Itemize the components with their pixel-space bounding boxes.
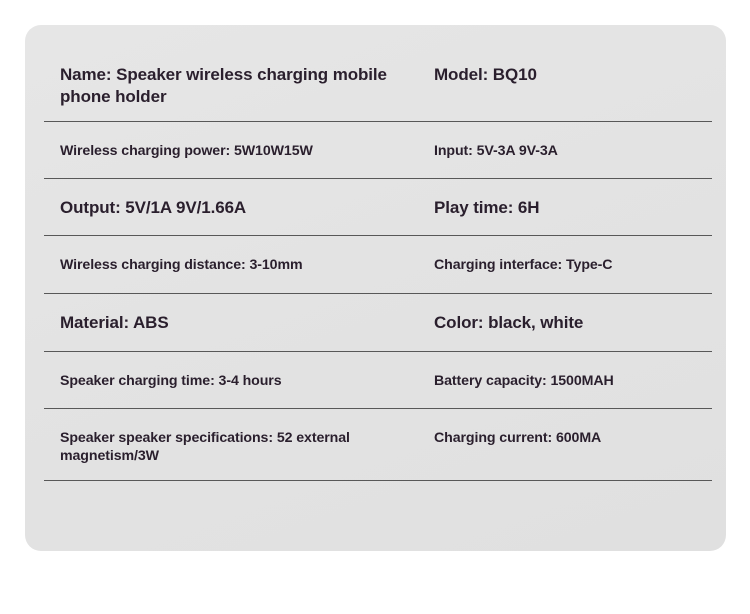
spec-material-left: Material: ABS <box>44 312 409 334</box>
spec-input-right: Input: 5V-3A 9V-3A <box>409 142 712 160</box>
spec-charging-current-right: Charging current: 600MA <box>409 429 712 447</box>
table-row: Name: Speaker wireless charging mobile p… <box>44 39 712 122</box>
table-row: Speaker charging time: 3-4 hours Battery… <box>44 352 712 409</box>
spec-charging-power-left: Wireless charging power: 5W10W15W <box>44 142 409 160</box>
specification-table: Name: Speaker wireless charging mobile p… <box>44 39 712 481</box>
specification-panel: Name: Speaker wireless charging mobile p… <box>25 25 726 551</box>
spec-speaker-specifications-left: Speaker speaker specifications: 52 exter… <box>44 429 409 465</box>
spec-charging-distance-left: Wireless charging distance: 3-10mm <box>44 256 409 274</box>
spec-play-time-right: Play time: 6H <box>409 197 712 219</box>
spec-model-right: Model: BQ10 <box>409 64 712 86</box>
spec-battery-capacity-right: Battery capacity: 1500MAH <box>409 372 712 390</box>
spec-color-right: Color: black, white <box>409 312 712 334</box>
spec-name-left: Name: Speaker wireless charging mobile p… <box>44 64 409 108</box>
table-row: Wireless charging power: 5W10W15W Input:… <box>44 122 712 179</box>
table-row: Speaker speaker specifications: 52 exter… <box>44 409 712 481</box>
table-row: Material: ABS Color: black, white <box>44 294 712 352</box>
spec-charging-interface-right: Charging interface: Type-C <box>409 256 712 274</box>
table-row: Wireless charging distance: 3-10mm Charg… <box>44 236 712 294</box>
table-row: Output: 5V/1A 9V/1.66A Play time: 6H <box>44 179 712 236</box>
spec-output-left: Output: 5V/1A 9V/1.66A <box>44 197 409 219</box>
spec-speaker-charging-time-left: Speaker charging time: 3-4 hours <box>44 372 409 390</box>
